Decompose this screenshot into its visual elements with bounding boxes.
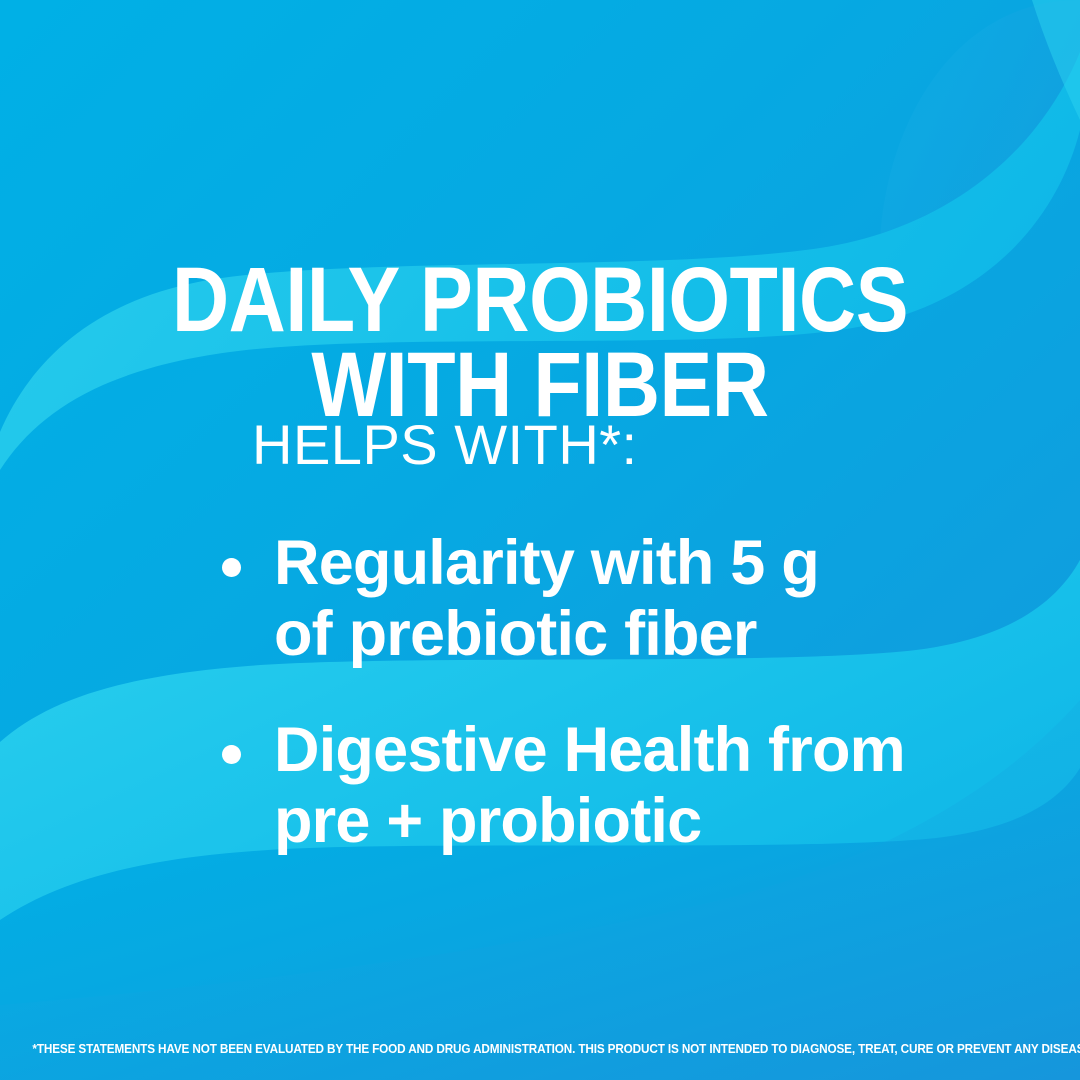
page-title: DAILY PROBIOTICS WITH FIBER xyxy=(76,258,1005,429)
content-area: DAILY PROBIOTICS WITH FIBER HELPS WITH*:… xyxy=(0,0,1080,1080)
benefit-line-2: pre + probiotic xyxy=(274,786,1018,857)
subheading-helps-with: HELPS WITH*: xyxy=(252,417,638,473)
benefits-list: Regularity with 5 g of prebiotic fiber D… xyxy=(218,528,1018,856)
bullet-dot-icon xyxy=(222,745,241,764)
benefit-line-1: Regularity with 5 g xyxy=(274,528,1018,599)
benefit-item-digestive-health: Digestive Health from pre + probiotic xyxy=(218,715,1018,856)
benefit-line-2: of prebiotic fiber xyxy=(274,599,1018,670)
benefit-item-regularity: Regularity with 5 g of prebiotic fiber xyxy=(218,528,1018,669)
bullet-dot-icon xyxy=(222,558,241,577)
fda-disclaimer: *THESE STATEMENTS HAVE NOT BEEN EVALUATE… xyxy=(32,1043,1047,1056)
promo-card: DAILY PROBIOTICS WITH FIBER HELPS WITH*:… xyxy=(0,0,1080,1080)
headline-line-1: DAILY PROBIOTICS xyxy=(76,258,1005,344)
benefit-line-1: Digestive Health from xyxy=(274,715,1018,786)
